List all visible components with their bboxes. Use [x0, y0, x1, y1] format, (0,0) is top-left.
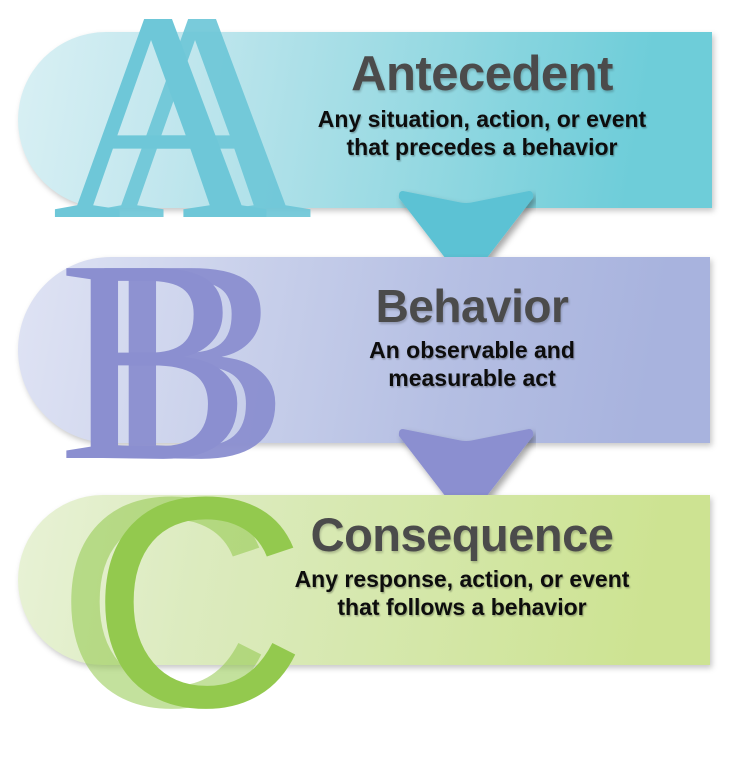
antecedent-band	[18, 32, 712, 208]
behavior-band	[18, 257, 710, 443]
abc-behavior-diagram: A A Antecedent Any situation, action, or…	[0, 0, 730, 700]
consequence-band	[18, 495, 710, 665]
